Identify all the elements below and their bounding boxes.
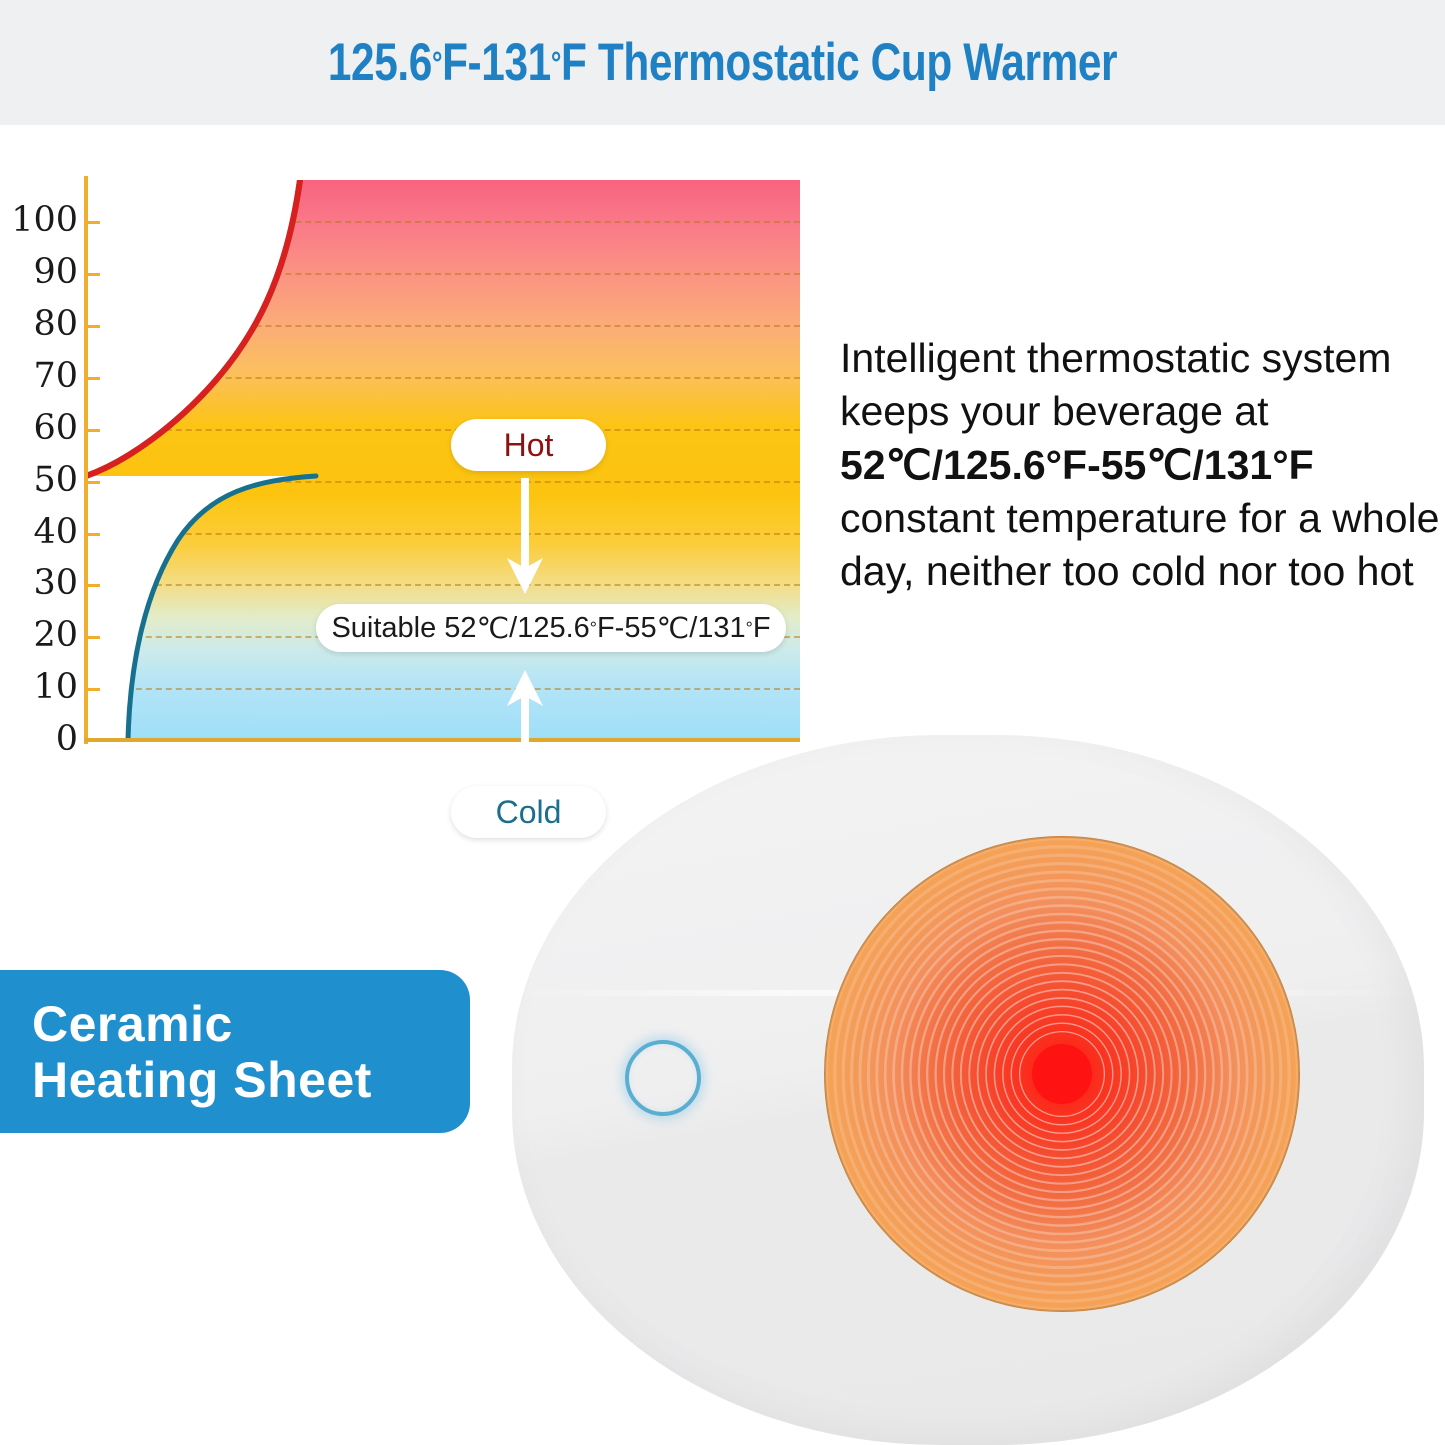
annotation-hot-label: Hot (504, 427, 554, 464)
page-title: 125.6°F-131°F Thermostatic Cup Warmer (145, 0, 1301, 125)
description-line1: Intelligent thermostatic system (840, 335, 1391, 381)
y-axis-tick (84, 688, 100, 691)
description-temp-bold-2: 125.6°F-55℃/131°F (943, 442, 1314, 488)
y-axis-tick (84, 636, 100, 639)
heating-element-icon (823, 835, 1301, 1313)
description-line2-plain: keeps your beverage at (840, 388, 1269, 434)
annotation-suitable-label: Suitable 52 (331, 612, 476, 645)
hot-curve-white-region (86, 180, 300, 476)
annotation-suitable-f1: F-55 (597, 612, 657, 645)
degree-symbol-4: ° (746, 618, 753, 639)
ceramic-heating-sheet-badge: Ceramic Heating Sheet (0, 970, 470, 1133)
annotation-suitable-f2: F (753, 612, 771, 645)
cup-warmer-device (512, 735, 1424, 1445)
celsius-symbol-1: ℃ (477, 611, 510, 646)
y-axis-tick-label: 30 (0, 566, 78, 601)
y-axis-tick (84, 325, 100, 328)
temperature-chart: 1009080706050403020100 Hot Suitable 52℃/… (0, 160, 840, 770)
y-axis-tick (84, 377, 100, 380)
y-axis-tick (84, 533, 100, 536)
degree-symbol-3: ° (590, 618, 597, 639)
y-axis-tick (84, 584, 100, 587)
celsius-symbol-2: ℃ (657, 611, 690, 646)
description-text: Intelligent thermostatic system keeps yo… (840, 332, 1440, 598)
y-axis-tick-label: 90 (0, 255, 78, 290)
y-axis-tick-label: 40 (0, 515, 78, 550)
page-title-text-c: F Thermostatic Cup Warmer (561, 32, 1117, 93)
annotation-suitable: Suitable 52℃/125.6°F-55℃/131°F (316, 604, 786, 652)
power-button[interactable] (625, 1040, 701, 1116)
y-axis-tick (84, 273, 100, 276)
y-axis-tick-label: 20 (0, 618, 78, 653)
y-axis-tick-label: 60 (0, 411, 78, 446)
annotation-hot: Hot (451, 419, 606, 471)
y-axis-tick-label: 100 (0, 203, 78, 238)
y-axis-tick-label: 50 (0, 463, 78, 498)
y-axis-tick-marks (84, 160, 102, 760)
y-axis-tick (84, 481, 100, 484)
y-axis-labels: 1009080706050403020100 (0, 160, 78, 760)
chart-curve-mask (86, 180, 800, 740)
arrow-down-icon (503, 478, 547, 596)
y-axis-tick-label: 70 (0, 359, 78, 394)
badge-line-2: Heating Sheet (32, 1052, 470, 1108)
page-title-text-a: 125.6 (328, 32, 432, 93)
y-axis-tick (84, 221, 100, 224)
y-axis-tick-label: 10 (0, 670, 78, 705)
y-axis-tick-label: 0 (0, 722, 78, 757)
description-temp-bold-1: 52℃/ (840, 442, 943, 488)
annotation-suitable-mid: /125.6 (509, 612, 590, 645)
y-axis-tick-label: 80 (0, 307, 78, 342)
chart-plot-area (86, 180, 800, 740)
description-line3-plain: constant (840, 495, 995, 541)
annotation-suitable-131: /131 (689, 612, 745, 645)
page-title-text-b: F-131 (442, 32, 551, 93)
y-axis-tick (84, 429, 100, 432)
badge-line-1: Ceramic (32, 996, 470, 1052)
description-line5: neither too cold nor too hot (926, 548, 1414, 594)
